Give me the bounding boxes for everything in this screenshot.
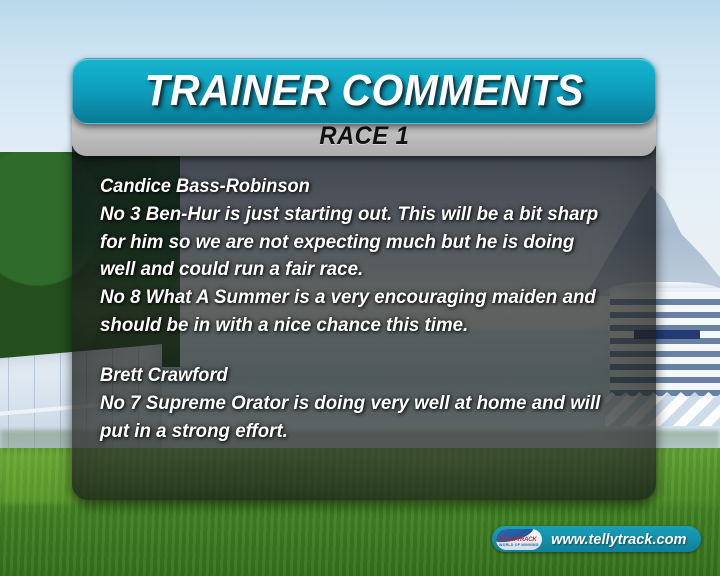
card-header-bar: TRAINER COMMENTS [72,58,656,124]
logo-wordmark: TELLYTRACK [499,537,537,543]
comment-block: Candice Bass-Robinson No 3 Ben-Hur is ju… [100,176,634,339]
race-label: RACE 1 [319,122,409,151]
trainer-comment-text: No 3 Ben-Hur is just starting out. This … [100,201,613,339]
trainer-name: Candice Bass-Robinson [100,176,613,198]
comments-panel: Candice Bass-Robinson No 3 Ben-Hur is ju… [72,146,656,500]
page-title: TRAINER COMMENTS [144,66,583,116]
trainer-comments-card: TRAINER COMMENTS RACE 1 Candice Bass-Rob… [72,58,656,510]
tellytrack-logo-icon: TELLYTRACK WORLD OF WINNING [496,529,542,550]
website-url: www.tellytrack.com [551,531,686,548]
tellytrack-branding-bug: TELLYTRACK WORLD OF WINNING www.tellytra… [492,526,701,552]
trainer-name: Brett Crawford [100,365,613,387]
broadcast-graphic-screen: TRAINER COMMENTS RACE 1 Candice Bass-Rob… [0,0,720,576]
trainer-comment-text: No 7 Supreme Orator is doing very well a… [100,390,613,445]
logo-tagline: WORLD OF WINNING [499,544,539,548]
comment-block: Brett Crawford No 7 Supreme Orator is do… [100,365,634,445]
